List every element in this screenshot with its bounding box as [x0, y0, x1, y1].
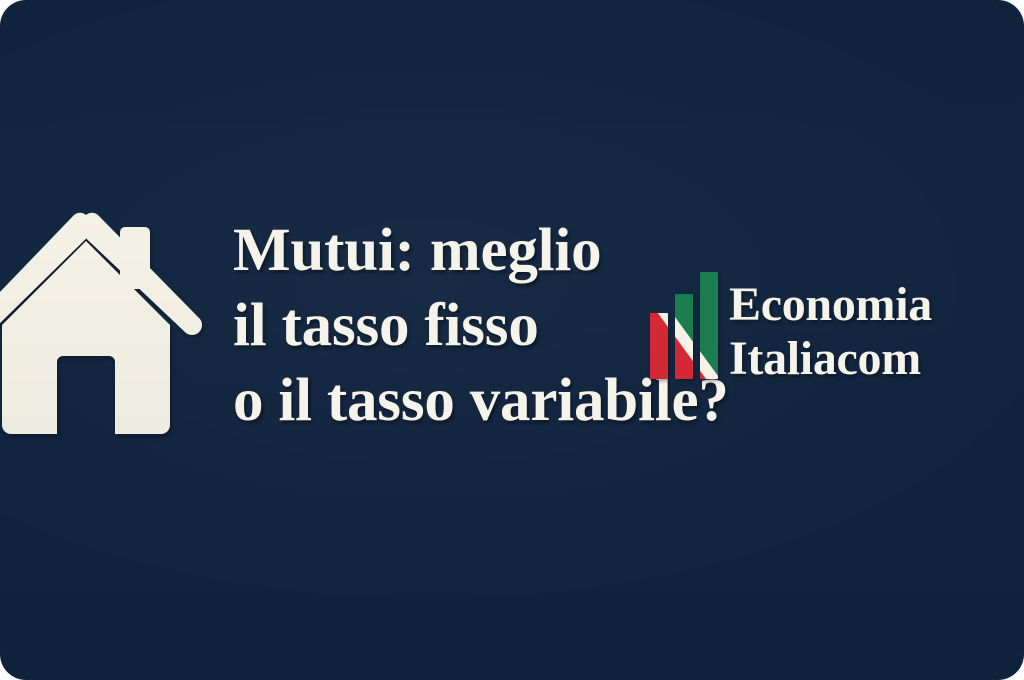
wordmark-line-1: Economia: [729, 278, 932, 332]
house-icon: [0, 207, 210, 447]
bar-chart-icon: [650, 272, 722, 379]
wordmark-line-2: Italiacom: [729, 332, 932, 386]
social-card: Mutui: meglio il tasso fisso o il tasso …: [0, 0, 1024, 680]
brand-wordmark: Economia Italiacom: [729, 278, 932, 386]
brand-logo: Economia Italiacom: [650, 272, 932, 386]
